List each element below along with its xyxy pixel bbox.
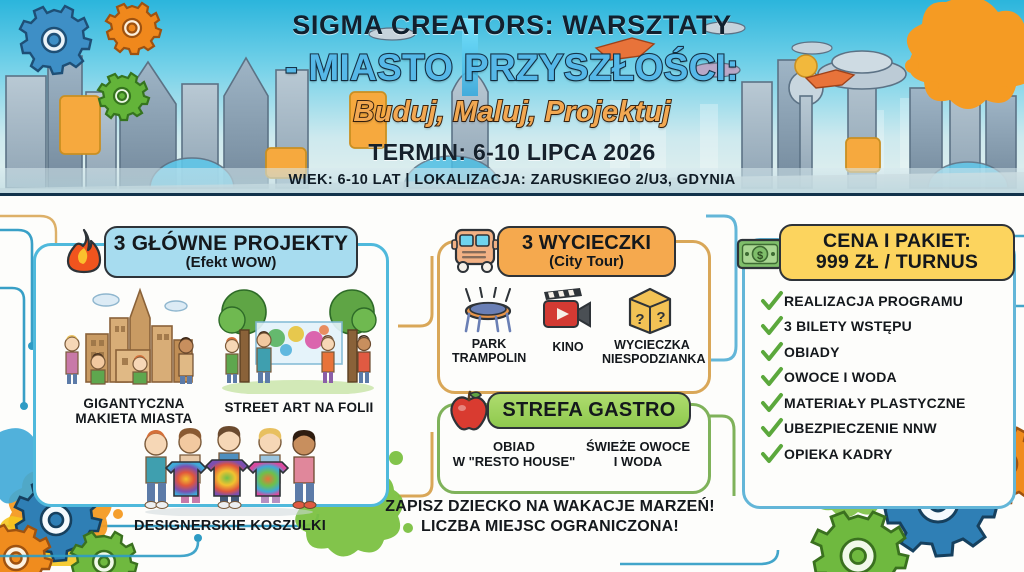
check-icon [760, 392, 784, 414]
header-text-block: SIGMA CREATORS: WARSZTATY - MIASTO PRZYS… [0, 0, 1024, 196]
svg-text:$: $ [757, 250, 763, 262]
price-feature-label: OPIEKA KADRY [784, 446, 893, 462]
gastro-item-2: ŚWIEŻE OWOCE I WODA [576, 440, 700, 470]
kid-figure [293, 430, 316, 509]
price-feature-label: MATERIAŁY PLASTYCZNE [784, 395, 966, 411]
header-line-3: Buduj, Maluj, Projektuj [0, 96, 1024, 129]
connector-trips [398, 256, 432, 496]
header-date: TERMIN: 6-10 LIPCA 2026 [0, 139, 1024, 166]
price-feature-item: OBIADY [760, 339, 1010, 365]
check-icon [760, 315, 784, 337]
projects-badge-subtitle: (Efekt WOW) [186, 255, 277, 271]
svg-text:?: ? [635, 311, 644, 328]
svg-text:?: ? [656, 309, 665, 326]
check-icon [760, 443, 784, 465]
poster-root: SIGMA CREATORS: WARSZTATY - MIASTO PRZYS… [0, 0, 1024, 572]
trips-badge: 3 WYCIECZKI (City Tour) [497, 226, 676, 277]
gastro-badge-title: STREFA GASTRO [502, 400, 675, 420]
trip-label-3: WYCIECZKA NIESPODZIANKA [602, 338, 702, 366]
fire-icon [62, 228, 106, 274]
check-icon [760, 366, 784, 388]
price-feature-list: REALIZACJA PROGRAMU 3 BILETY WSTĘPU OBIA… [760, 288, 1010, 467]
price-feature-item: MATERIAŁY PLASTYCZNE [760, 390, 1010, 416]
mystery-box-icon: ? ? [624, 285, 676, 335]
price-feature-item: OPIEKA KADRY [760, 441, 1010, 467]
price-feature-label: REALIZACJA PROGRAMU [784, 293, 963, 309]
price-feature-item: REALIZACJA PROGRAMU [760, 288, 1010, 314]
header-age-location: WIEK: 6-10 LAT | LOKALIZACJA: ZARUSKIEGO… [0, 172, 1024, 188]
header-banner: SIGMA CREATORS: WARSZTATY - MIASTO PRZYS… [0, 0, 1024, 196]
check-icon [760, 341, 784, 363]
kid-figure [145, 430, 168, 509]
price-feature-item: OWOCE I WODA [760, 365, 1010, 391]
apple-icon [448, 390, 490, 432]
cta-line-1: ZAPISZ DZIECKO NA WAKACJE MARZEŃ! [360, 497, 740, 517]
cta-text: ZAPISZ DZIECKO NA WAKACJE MARZEŃ! LICZBA… [360, 497, 740, 536]
price-feature-item: UBEZPIECZENIE NNW [760, 416, 1010, 442]
price-feature-item: 3 BILETY WSTĘPU [760, 314, 1010, 340]
header-line-2: - MIASTO PRZYSZŁOŚCI: [0, 47, 1024, 89]
price-badge-line-1: CENA I PAKIET: [823, 232, 971, 252]
projects-badge-title: 3 GŁÓWNE PROJEKTY [114, 233, 348, 254]
price-feature-label: OWOCE I WODA [784, 369, 897, 385]
money-banknote-icon: $ [736, 237, 784, 271]
kid-figure [322, 335, 335, 383]
kid-figure [65, 335, 79, 384]
trip-label-1: PARK TRAMPOLIN [452, 337, 526, 365]
kid-figure [358, 335, 371, 383]
trips-badge-subtitle: (City Tour) [549, 254, 624, 270]
tiedye-shirt [206, 460, 248, 496]
trip-label-2: KINO [538, 340, 598, 354]
check-icon [760, 417, 784, 439]
kids-painting-foil-illustration [218, 282, 378, 394]
price-badge: CENA I PAKIET: 999 ZŁ / TURNUS [779, 224, 1015, 281]
check-icon [760, 290, 784, 312]
kid-figure [133, 355, 147, 384]
kid-figure [257, 331, 271, 383]
project-caption-1: GIGANTYCZNA MAKIETA MIASTA [56, 396, 212, 426]
trips-badge-title: 3 WYCIECZKI [522, 233, 651, 253]
school-bus-icon [450, 226, 500, 274]
project-caption-3: DESIGNERSKIE KOSZULKI [120, 518, 340, 534]
kids-tiedye-tshirts-illustration [136, 424, 322, 516]
tiedye-shirt [248, 462, 288, 496]
cardboard-city-model-illustration [58, 282, 208, 394]
gastro-item-1: OBIAD W "RESTO HOUSE" [448, 440, 580, 470]
price-feature-label: OBIADY [784, 344, 840, 360]
price-badge-line-2: 999 ZŁ / TURNUS [816, 252, 978, 272]
projects-badge: 3 GŁÓWNE PROJEKTY (Efekt WOW) [104, 226, 358, 278]
price-feature-label: UBEZPIECZENIE NNW [784, 420, 937, 436]
cta-line-2: LICZBA MIEJSC OGRANICZONA! [360, 517, 740, 537]
project-caption-2: STREET ART NA FOLII [216, 400, 382, 415]
gastro-badge: STREFA GASTRO [487, 392, 691, 429]
trampoline-icon [460, 287, 518, 335]
kid-figure [226, 337, 239, 383]
price-feature-label: 3 BILETY WSTĘPU [784, 318, 912, 334]
header-line-1: SIGMA CREATORS: WARSZTATY [0, 10, 1024, 41]
movie-camera-icon [540, 288, 596, 334]
